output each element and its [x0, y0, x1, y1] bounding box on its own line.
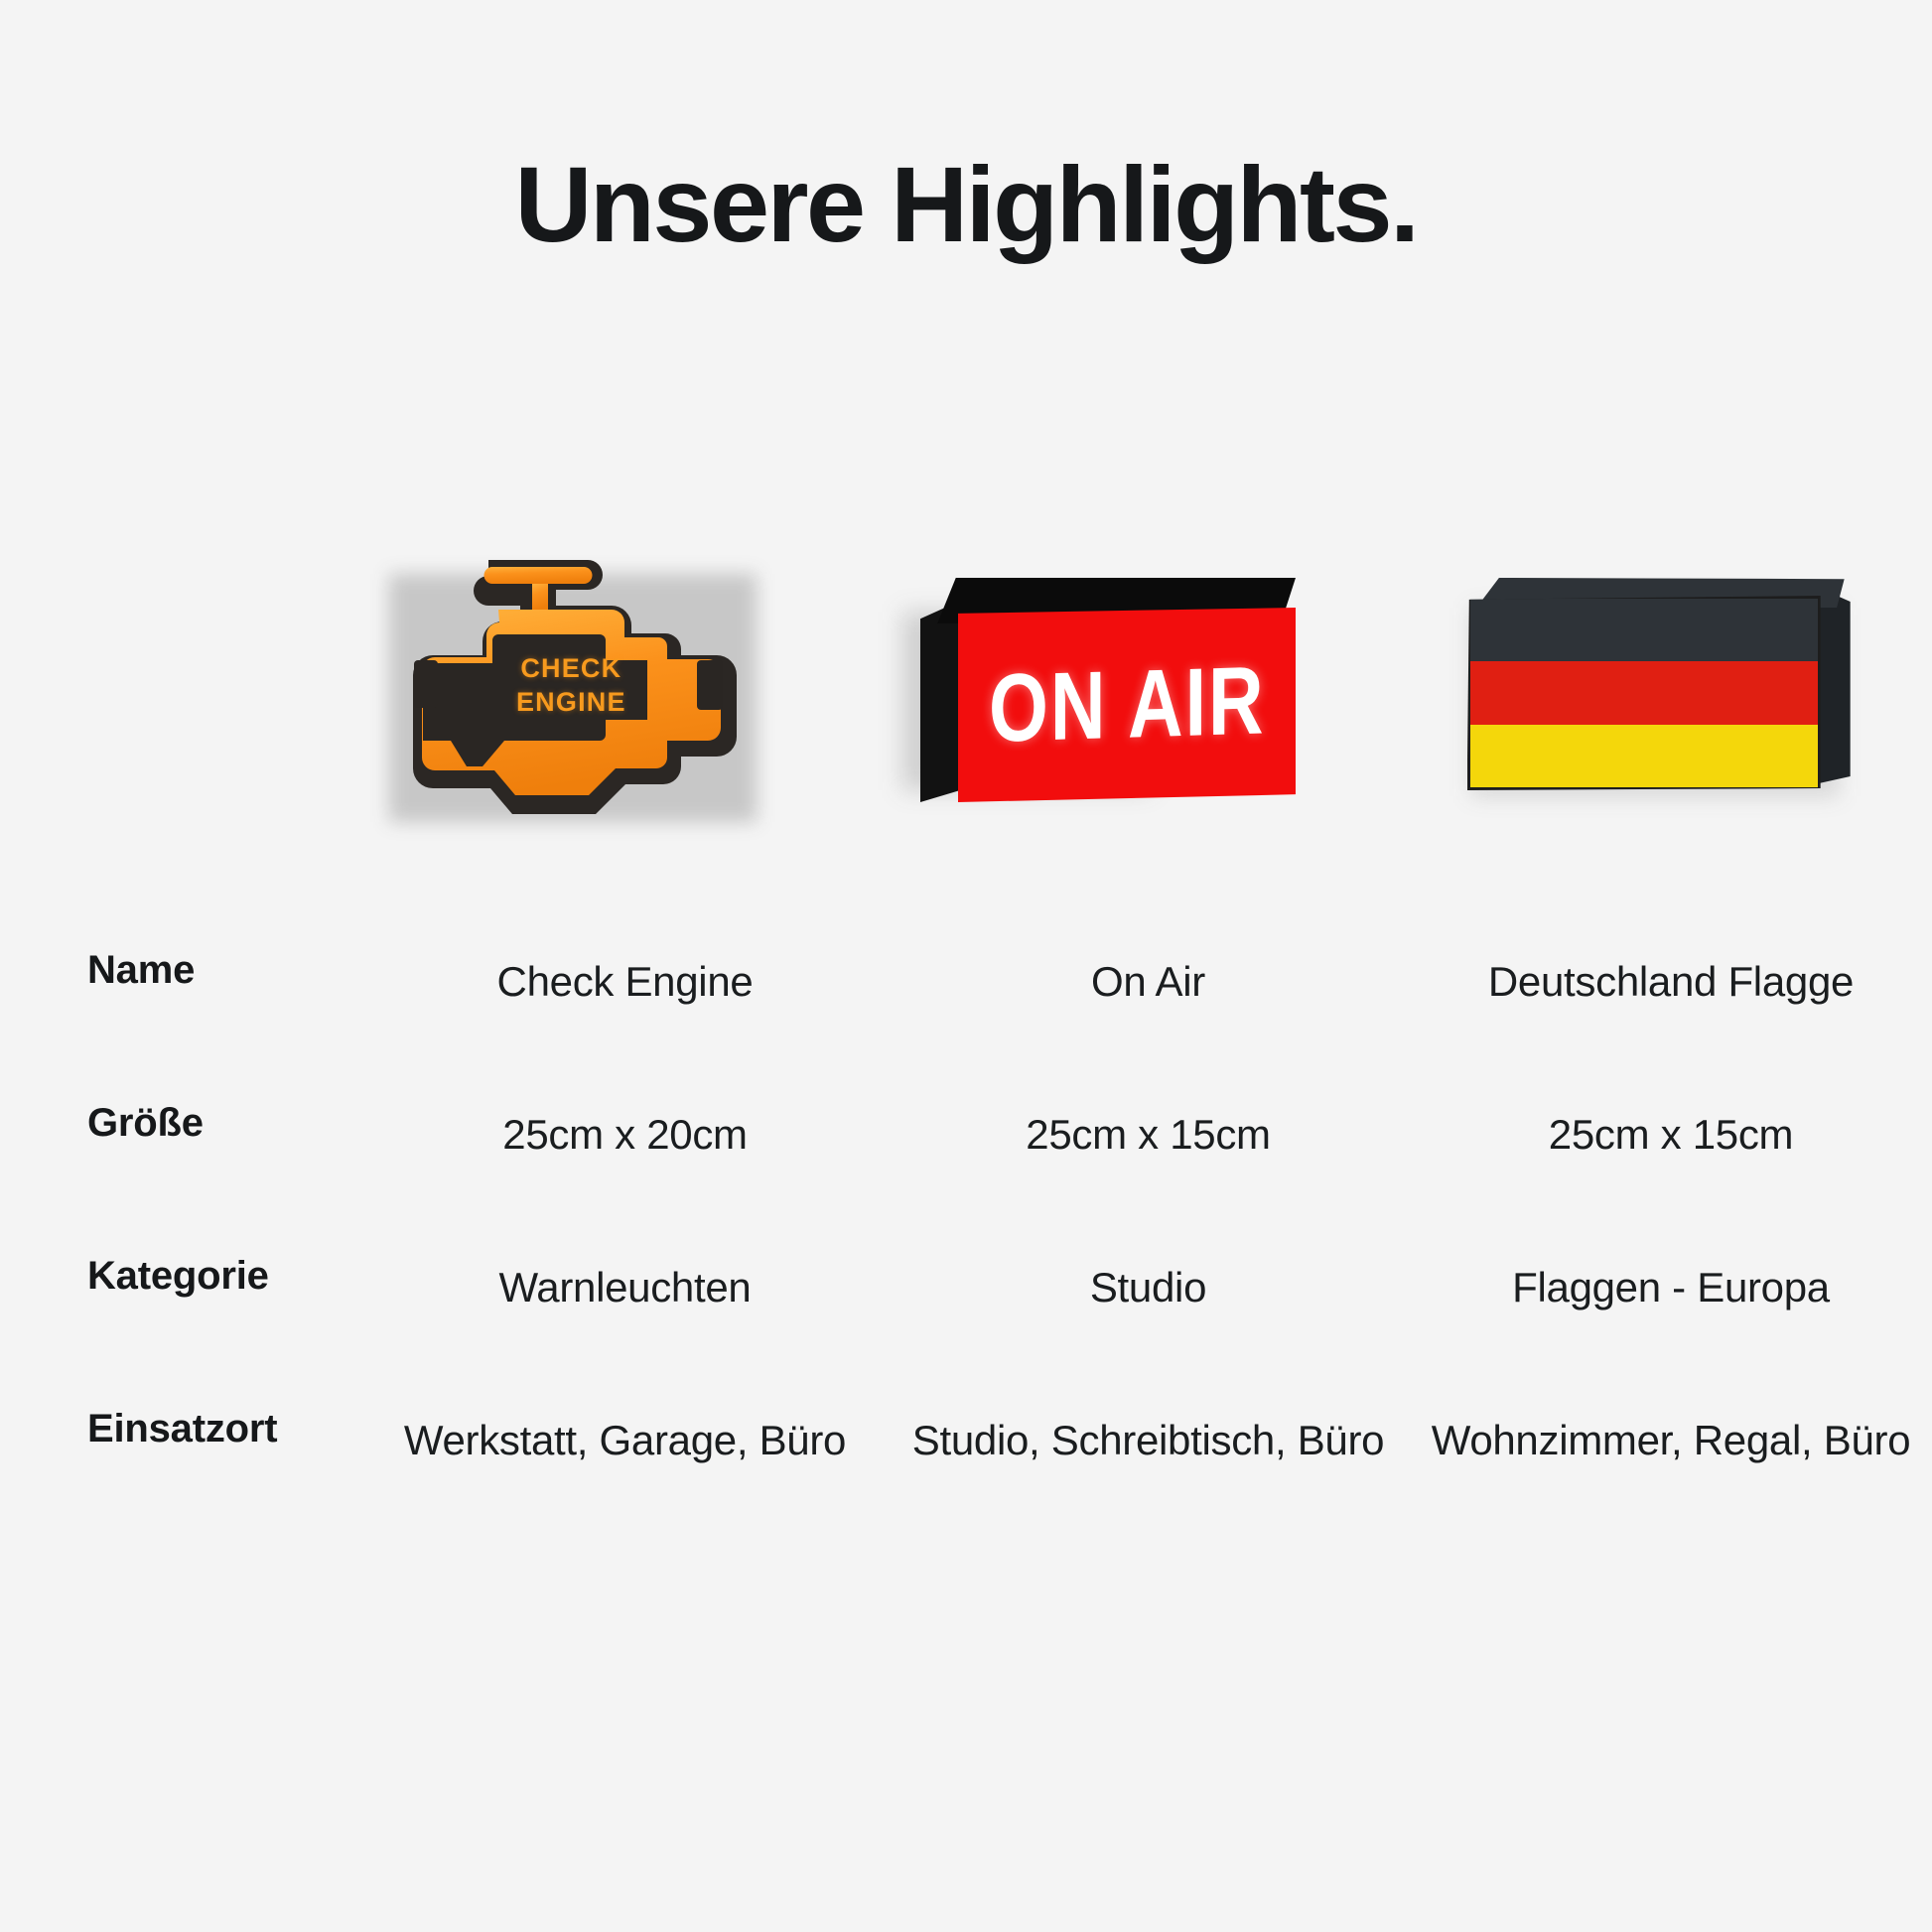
on-air-label: ON AIR: [989, 645, 1266, 765]
cell-name-check-engine: Check Engine: [363, 948, 887, 1016]
cell-kategorie-deutschland-flagge: Flaggen - Europa: [1410, 1254, 1932, 1321]
cell-einsatzort-on-air: Studio, Schreibtisch, Büro: [887, 1407, 1410, 1474]
check-engine-label-line1: CHECK: [477, 651, 665, 685]
row-spacer: [0, 1321, 1932, 1407]
flag-band-black: [1470, 599, 1818, 661]
box-front-face: ON AIR: [958, 608, 1296, 802]
page-title-row: Unsere Highlights.: [0, 147, 1932, 263]
table-row-groesse: Größe 25cm x 20cm 25cm x 15cm 25cm x 15c…: [0, 1101, 1932, 1169]
cell-name-deutschland-flagge: Deutschland Flagge: [1410, 948, 1932, 1016]
table-row-name: Name Check Engine On Air Deutschland Fla…: [0, 948, 1932, 1016]
check-engine-label-line2: ENGINE: [477, 685, 665, 719]
row-spacer: [0, 1169, 1932, 1254]
germany-flag-light-box: [1461, 578, 1859, 806]
check-engine-label: CHECK ENGINE: [477, 651, 665, 719]
cell-kategorie-on-air: Studio: [887, 1254, 1410, 1321]
table-row-einsatzort: Einsatzort Werkstatt, Garage, Büro Studi…: [0, 1407, 1932, 1474]
product-image-on-air[interactable]: ON AIR: [843, 536, 1388, 834]
row-spacer: [0, 1016, 1932, 1101]
row-label-name: Name: [0, 948, 363, 1016]
highlights-page: Unsere Highlights.: [0, 0, 1932, 1932]
row-label-groesse: Größe: [0, 1101, 363, 1169]
product-image-check-engine[interactable]: CHECK ENGINE: [298, 536, 843, 834]
product-image-deutschland-flagge[interactable]: [1387, 536, 1932, 834]
row-label-einsatzort: Einsatzort: [0, 1407, 363, 1474]
cell-groesse-deutschland-flagge: 25cm x 15cm: [1410, 1101, 1932, 1169]
box-front-face: [1467, 596, 1821, 790]
product-image-row: CHECK ENGINE ON AIR: [298, 536, 1932, 834]
cell-name-on-air: On Air: [887, 948, 1410, 1016]
cell-groesse-on-air: 25cm x 15cm: [887, 1101, 1410, 1169]
flag-band-gold: [1470, 725, 1818, 787]
spec-comparison-table: Name Check Engine On Air Deutschland Fla…: [0, 948, 1932, 1474]
cell-groesse-check-engine: 25cm x 20cm: [363, 1101, 887, 1169]
page-title: Unsere Highlights.: [514, 147, 1417, 263]
check-engine-lamp: CHECK ENGINE: [381, 556, 759, 824]
row-label-kategorie: Kategorie: [0, 1254, 363, 1321]
table-row-kategorie: Kategorie Warnleuchten Studio Flaggen - …: [0, 1254, 1932, 1321]
flag-band-red: [1470, 661, 1818, 724]
on-air-light-box: ON AIR: [916, 578, 1313, 808]
cell-einsatzort-deutschland-flagge: Wohnzimmer, Regal, Büro: [1410, 1407, 1932, 1474]
cell-einsatzort-check-engine: Werkstatt, Garage, Büro: [363, 1407, 887, 1474]
cell-kategorie-check-engine: Warnleuchten: [363, 1254, 887, 1321]
